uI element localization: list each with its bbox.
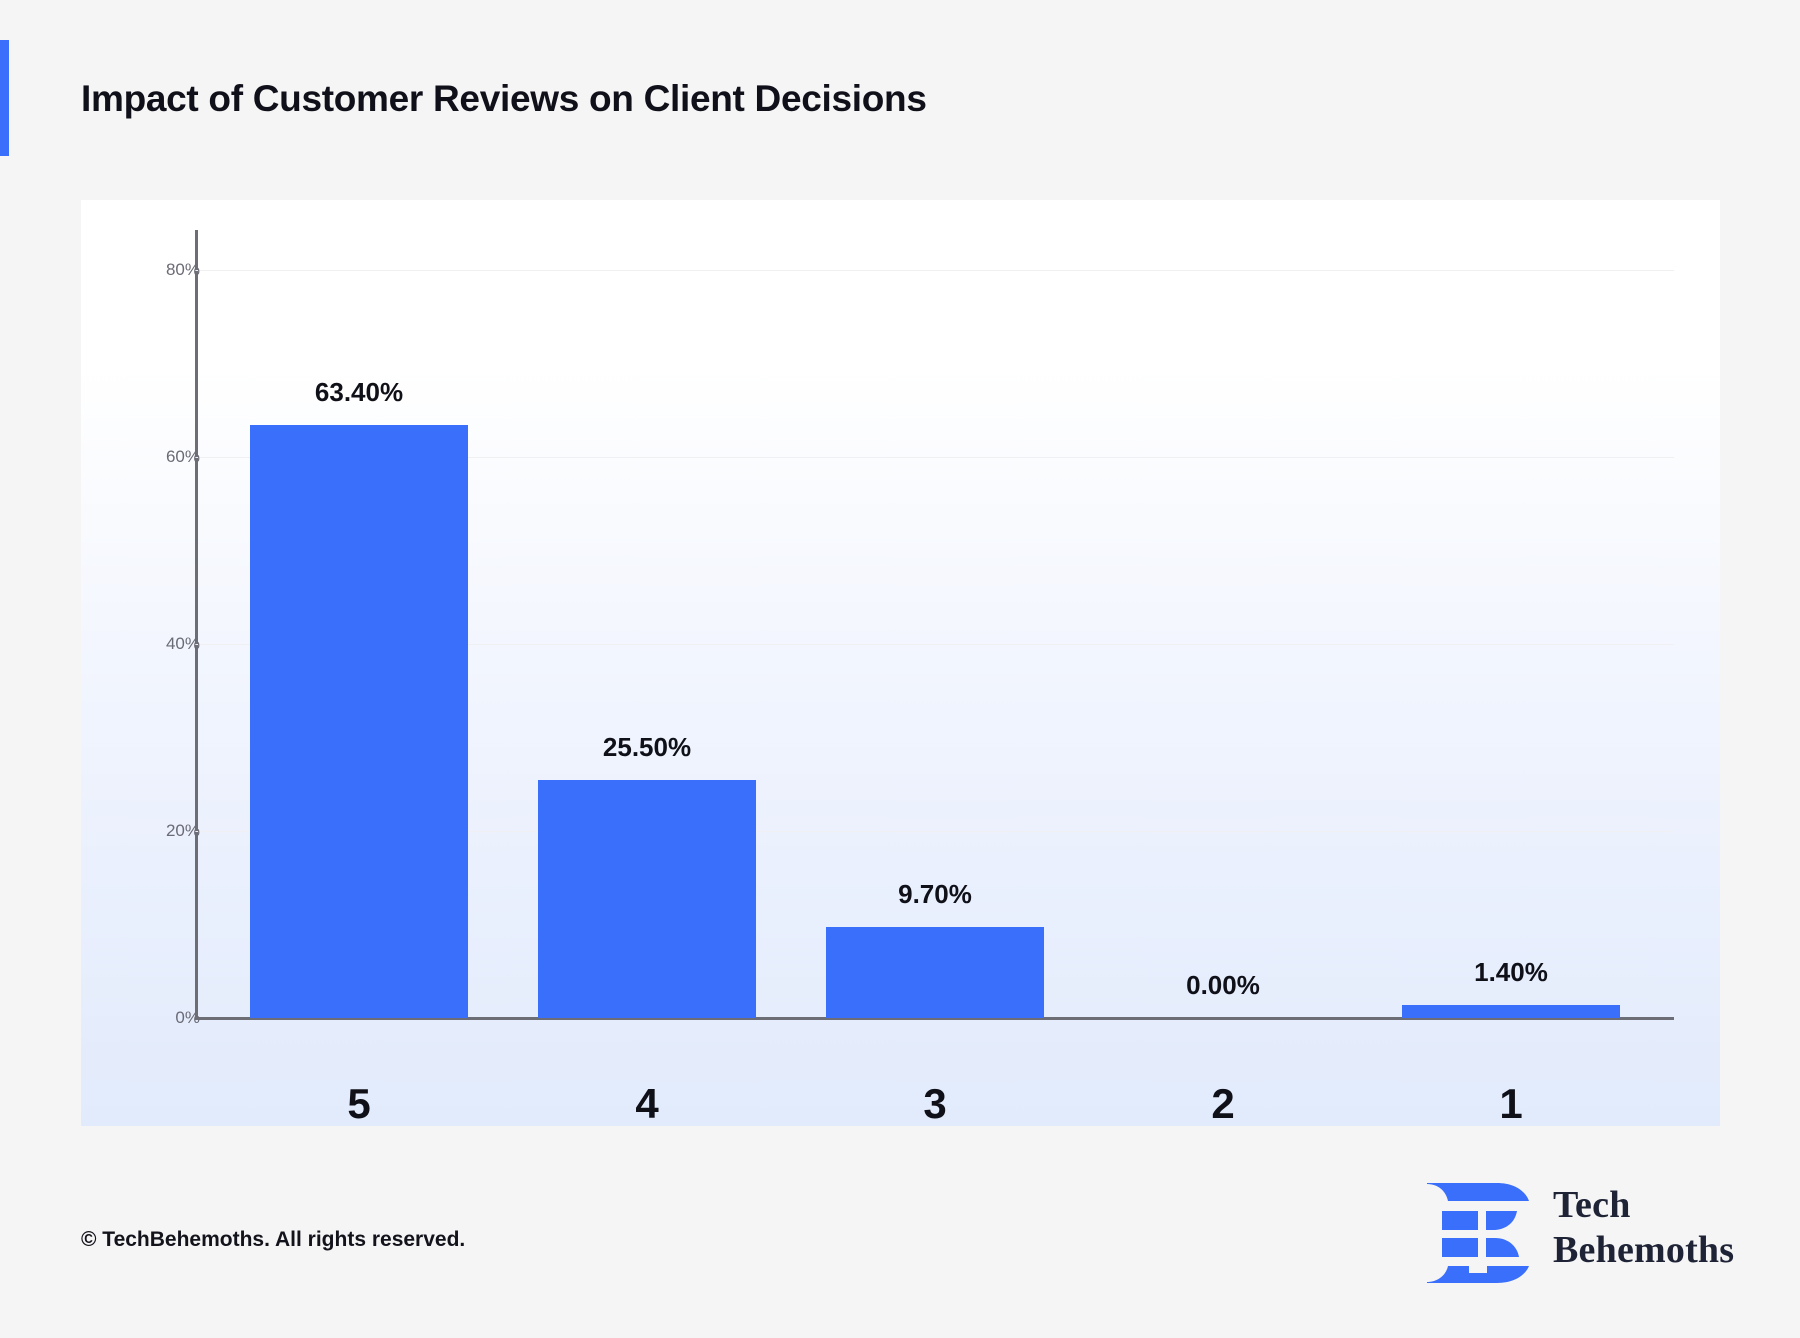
brand-logo[interactable]: Tech Behemoths: [1425, 1175, 1720, 1291]
y-axis-line: [195, 230, 198, 1018]
chart-card: 0%20%40%60%80%63.40%525.50%49.70%30.00%2…: [81, 200, 1720, 1126]
footer-copyright: © TechBehemoths. All rights reserved.: [81, 1228, 465, 1252]
logo-wordmark-line2: Behemoths: [1553, 1228, 1734, 1273]
bar-value-label: 1.40%: [1402, 957, 1620, 988]
bar-3[interactable]: [826, 927, 1044, 1018]
chart-canvas: Impact of Customer Reviews on Client Dec…: [0, 0, 1800, 1338]
bar-value-label: 63.40%: [250, 377, 468, 408]
plot-area: 0%20%40%60%80%63.40%525.50%49.70%30.00%2…: [81, 200, 1720, 1126]
bar-5[interactable]: [250, 425, 468, 1018]
techbehemoths-b-mark-icon: [1425, 1181, 1530, 1285]
y-axis-tick-label: 80%: [80, 260, 200, 280]
x-axis-category-label: 5: [250, 1080, 468, 1128]
bar-4[interactable]: [538, 780, 756, 1018]
gridline: [195, 270, 1674, 271]
logo-wordmark: Tech Behemoths: [1553, 1183, 1734, 1273]
x-axis-category-label: 3: [826, 1080, 1044, 1128]
bar-value-label: 0.00%: [1114, 970, 1332, 1001]
x-axis-category-label: 4: [538, 1080, 756, 1128]
y-axis-tick-label: 60%: [80, 447, 200, 467]
bar-1[interactable]: [1402, 1005, 1620, 1018]
y-axis-tick-label: 40%: [80, 634, 200, 654]
bar-value-label: 25.50%: [538, 732, 756, 763]
title-accent-bar: [0, 40, 9, 156]
bar-value-label: 9.70%: [826, 879, 1044, 910]
logo-wordmark-line1: Tech: [1553, 1183, 1734, 1228]
y-axis-tick-label: 20%: [80, 821, 200, 841]
x-axis-category-label: 2: [1114, 1080, 1332, 1128]
page-title: Impact of Customer Reviews on Client Dec…: [81, 78, 927, 120]
y-axis-tick-label: 0%: [80, 1008, 200, 1028]
x-axis-category-label: 1: [1402, 1080, 1620, 1128]
